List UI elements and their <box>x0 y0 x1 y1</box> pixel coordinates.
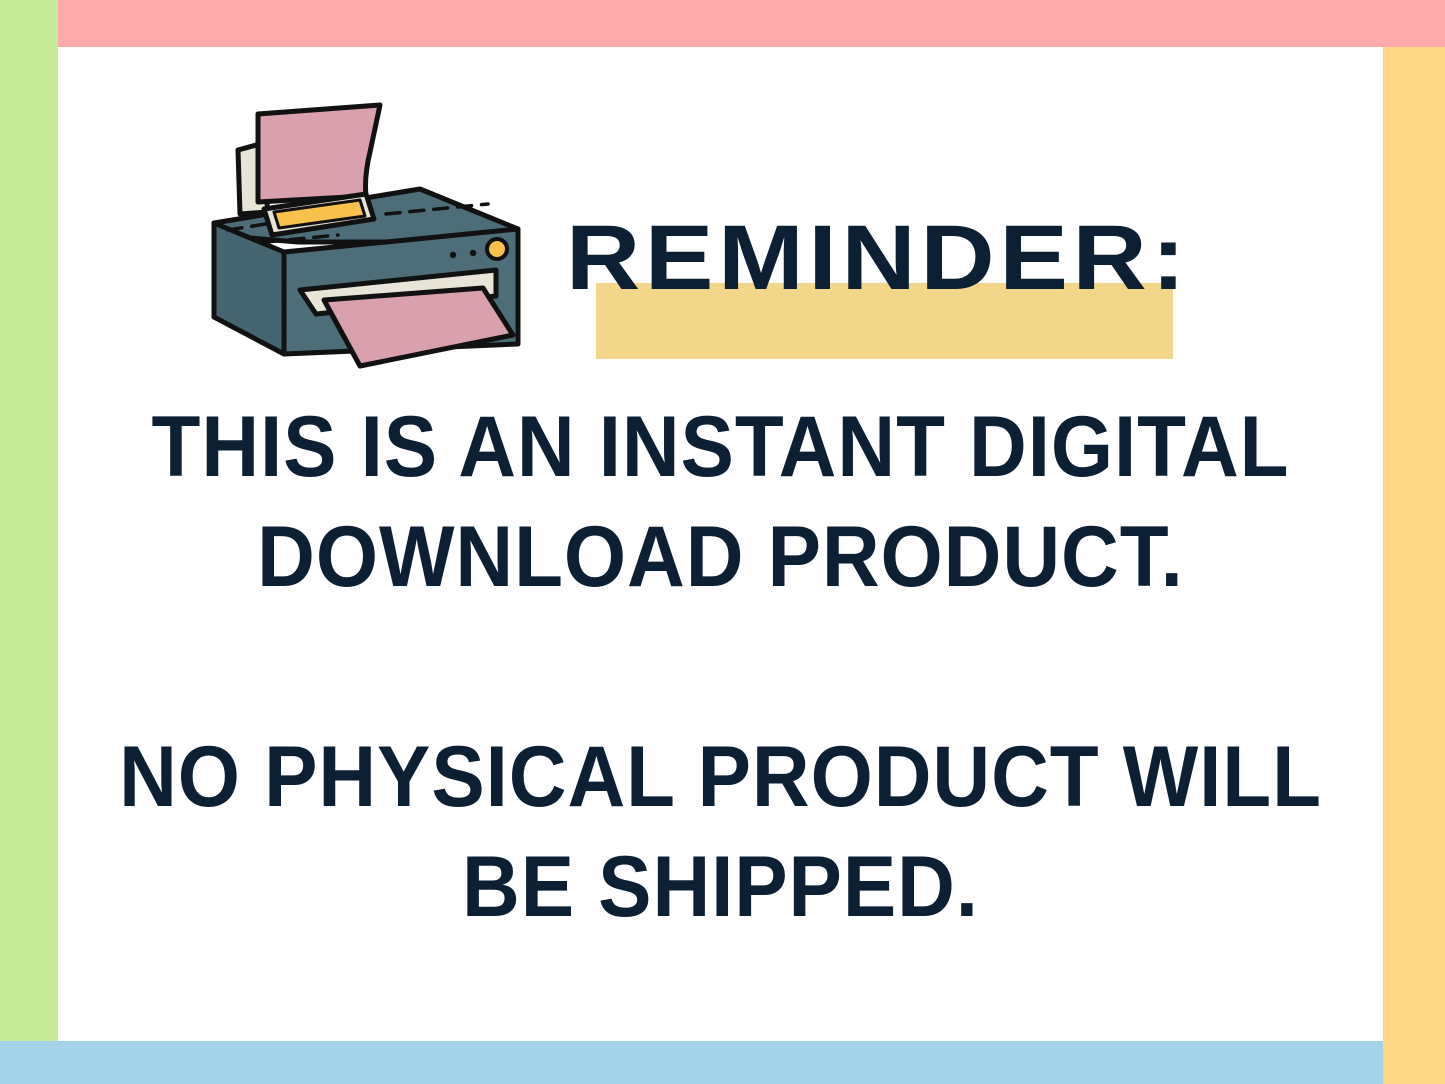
body-line-4: NO PHYSICAL PRODUCT WILL <box>104 722 1336 832</box>
body-line-spacer <box>58 612 1383 722</box>
printer-top-paper <box>258 105 380 202</box>
yellow-band <box>1383 47 1445 1084</box>
title-block: REMINDER: <box>578 212 1178 347</box>
blue-band <box>0 1041 1383 1084</box>
printer-output-paper <box>324 288 513 366</box>
printer-indicator-dot-1 <box>450 252 456 258</box>
printer-indicator-dot-2 <box>470 250 476 256</box>
content-area: REMINDER: THIS IS AN INSTANT DIGITAL DOW… <box>58 47 1383 1041</box>
body-line-5: BE SHIPPED. <box>104 832 1336 942</box>
printer-power-button <box>487 239 507 259</box>
green-band <box>0 0 58 1041</box>
printer-illustration <box>188 92 548 392</box>
body-line-1: THIS IS AN INSTANT DIGITAL <box>104 392 1336 502</box>
page-title: REMINDER: <box>542 212 1214 304</box>
pink-band <box>58 0 1445 47</box>
body-line-2: DOWNLOAD PRODUCT. <box>104 502 1336 612</box>
poster-canvas: REMINDER: THIS IS AN INSTANT DIGITAL DOW… <box>0 0 1445 1084</box>
body-copy: THIS IS AN INSTANT DIGITAL DOWNLOAD PROD… <box>58 392 1383 942</box>
